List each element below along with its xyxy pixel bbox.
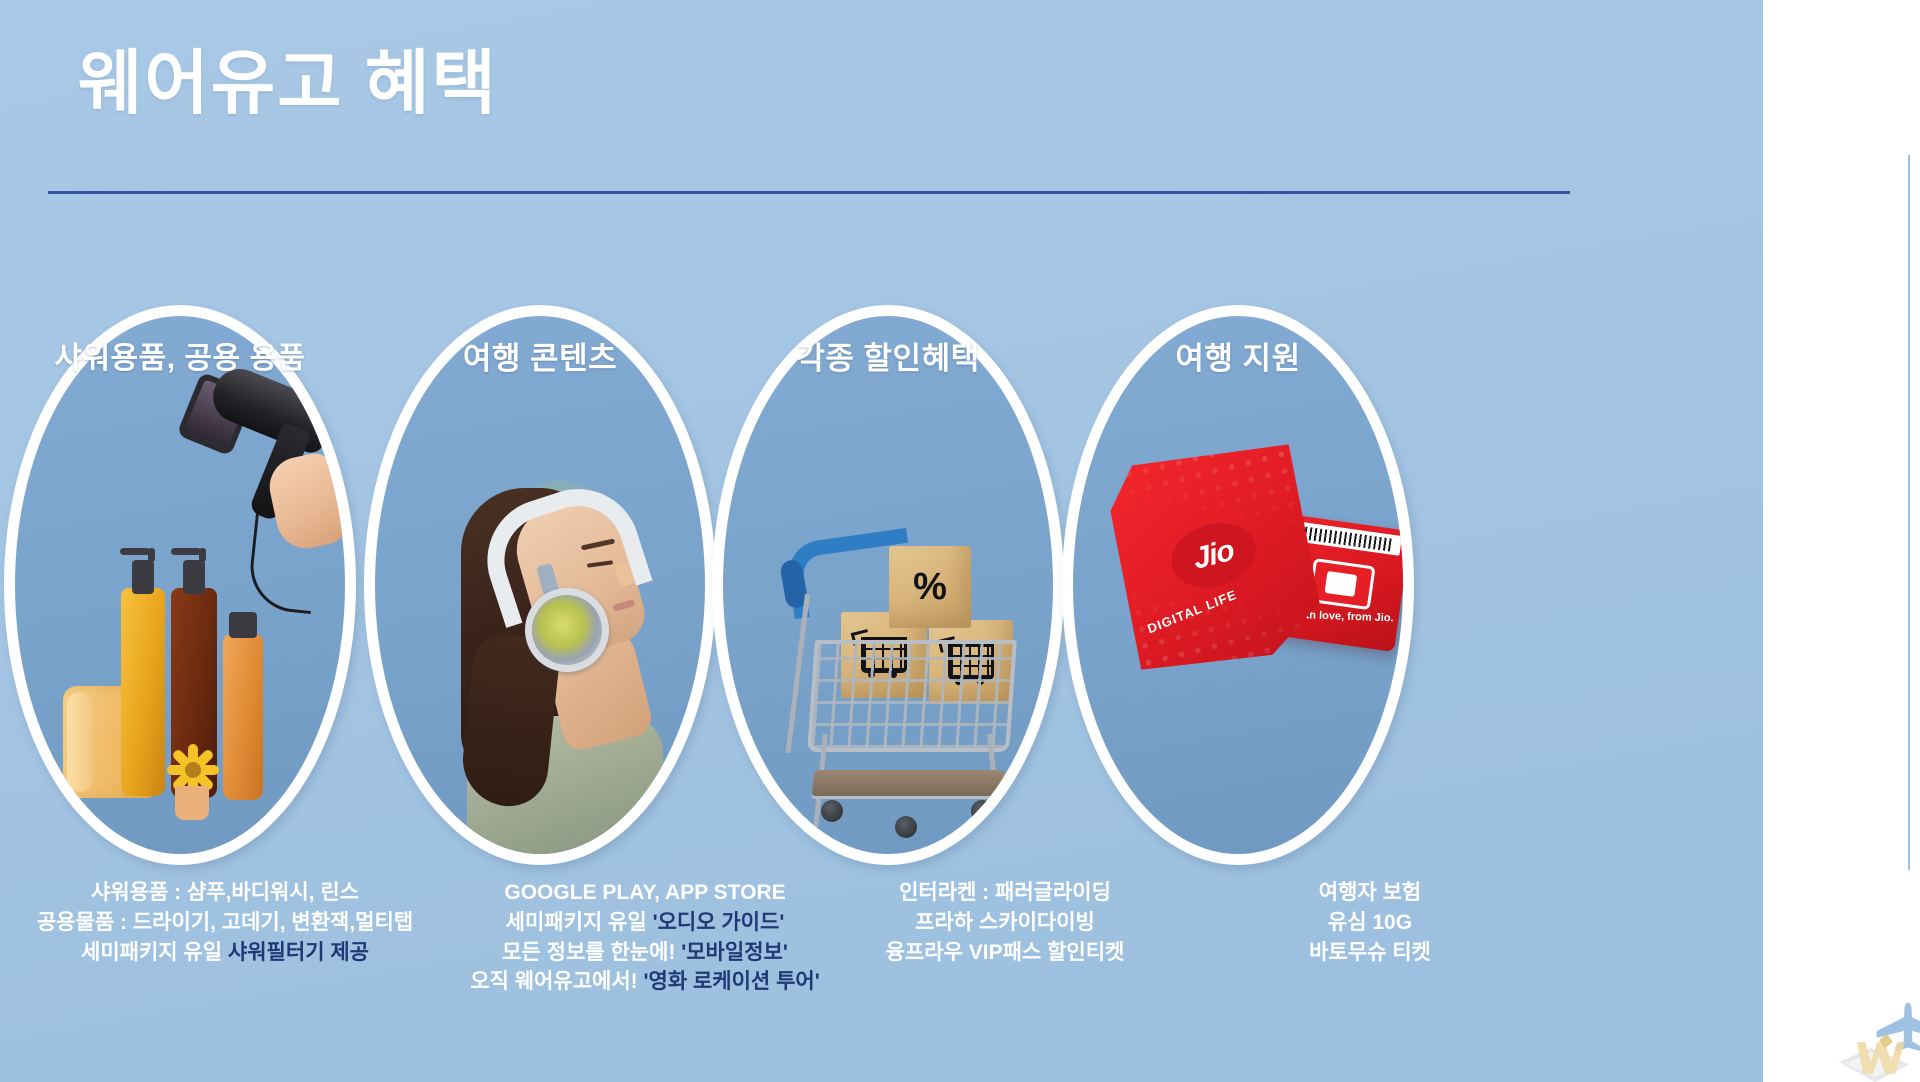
caption-line: 프라하 스카이다이빙 xyxy=(790,908,1220,938)
bodywash-bottle-orange xyxy=(223,634,263,800)
caption-highlight: '영화 로케이션 투어' xyxy=(644,970,820,993)
caption-line: 유심 10G xyxy=(1170,908,1570,938)
caption-block-travel-support: 여행자 보험 유심 10G 바토무슈 티켓 xyxy=(1170,878,1570,967)
pump-head-right xyxy=(183,560,205,594)
card-title-travel-content: 여행 콘텐츠 xyxy=(364,333,716,378)
caption-highlight: 샤워필터기 제공 xyxy=(228,941,369,964)
caption-line: 샤워용품 : 샴푸,바디워시, 린스 xyxy=(0,878,460,908)
benefit-card-travel-support[interactable]: With love, from Jio. Jio DIGITAL LIFE 여행… xyxy=(1062,305,1414,865)
wooden-box-percent: % xyxy=(889,546,971,628)
card-illustration-jio-sim: With love, from Jio. Jio DIGITAL LIFE xyxy=(1073,316,1414,865)
right-side-panel xyxy=(1763,0,1920,1082)
captions-row: 샤워용품 : 샴푸,바디워시, 린스 공용물품 : 드라이기, 고데기, 변환잭… xyxy=(0,878,1763,1068)
cart-base-platform xyxy=(812,770,1005,796)
caption-line: 여행자 보험 xyxy=(1170,878,1570,908)
card-oval-shape: With love, from Jio. Jio DIGITAL LIFE xyxy=(1062,305,1414,865)
card-illustration-shopping-cart: % xyxy=(723,316,1064,865)
cart-wheel xyxy=(821,800,843,822)
card-illustration-toiletries xyxy=(15,316,356,865)
bottle-cap xyxy=(229,612,257,638)
caption-highlight: '오디오 가이드' xyxy=(653,911,785,934)
card-title-discounts: 각종 할인혜택 xyxy=(712,333,1064,378)
caption-block-discounts: 인터라켄 : 패러글라이딩 프라하 스카이다이빙 융프라우 VIP패스 할인티켓 xyxy=(790,878,1220,967)
jio-sim-card-large: Jio DIGITAL LIFE xyxy=(1103,427,1327,687)
cart-basket xyxy=(807,640,1017,752)
benefit-card-discounts[interactable]: % 각종 할인혜택 xyxy=(712,305,1064,865)
jio-brand-text: Jio xyxy=(1191,534,1237,577)
cart-wheel xyxy=(971,800,993,822)
card-title-travel-support: 여행 지원 xyxy=(1062,333,1414,378)
caption-prefix: 세미패키지 유일 xyxy=(506,911,653,934)
title-divider xyxy=(48,191,1570,194)
caption-line: 융프라우 VIP패스 할인티켓 xyxy=(790,938,1220,968)
caption-prefix: 모든 정보를 한눈에! xyxy=(502,941,681,964)
caption-line: 인터라켄 : 패러글라이딩 xyxy=(790,878,1220,908)
caption-prefix: 오직 웨어유고에서! xyxy=(470,970,643,993)
caption-prefix: 세미패키지 유일 xyxy=(81,941,228,964)
pump-head-left xyxy=(132,560,154,594)
shampoo-bottle-amber xyxy=(121,588,165,796)
shopping-cart-graphic: % xyxy=(777,494,1027,844)
percent-glyph-icon: % xyxy=(913,568,947,606)
caption-highlight: '모바일정보' xyxy=(681,941,788,964)
caption-line: 오직 웨어유고에서! '영화 로케이션 투어' xyxy=(420,967,870,997)
page-title: 웨어유고 혜택 xyxy=(78,47,498,121)
benefit-card-shower-supplies[interactable]: 샤워용품, 공용 용품 xyxy=(4,305,356,865)
card-oval-shape xyxy=(364,305,716,865)
vase-shape xyxy=(175,786,209,820)
card-oval-shape xyxy=(4,305,356,865)
vertical-accent-line xyxy=(1908,155,1910,870)
caption-block-shower-supplies: 샤워용품 : 샴푸,바디워시, 린스 공용물품 : 드라이기, 고데기, 변환잭… xyxy=(0,878,460,967)
benefit-card-travel-content[interactable]: 여행 콘텐츠 xyxy=(364,305,716,865)
caption-line: 공용물품 : 드라이기, 고데기, 변환잭,멀티탭 xyxy=(0,908,460,938)
cart-wheel xyxy=(895,816,917,838)
card-oval-shape: % xyxy=(712,305,1064,865)
slide-root: 웨어유고 혜택 xyxy=(0,0,1920,1082)
card-title-shower-supplies: 샤워용품, 공용 용품 xyxy=(4,333,356,377)
caption-line: 바토무슈 티켓 xyxy=(1170,938,1570,968)
caption-line: 세미패키지 유일 샤워필터기 제공 xyxy=(0,938,460,968)
card-illustration-headphones-woman xyxy=(375,316,716,865)
w-logo-watermark xyxy=(1835,1028,1913,1082)
benefit-cards-row: 샤워용품, 공용 용품 xyxy=(0,305,1763,865)
